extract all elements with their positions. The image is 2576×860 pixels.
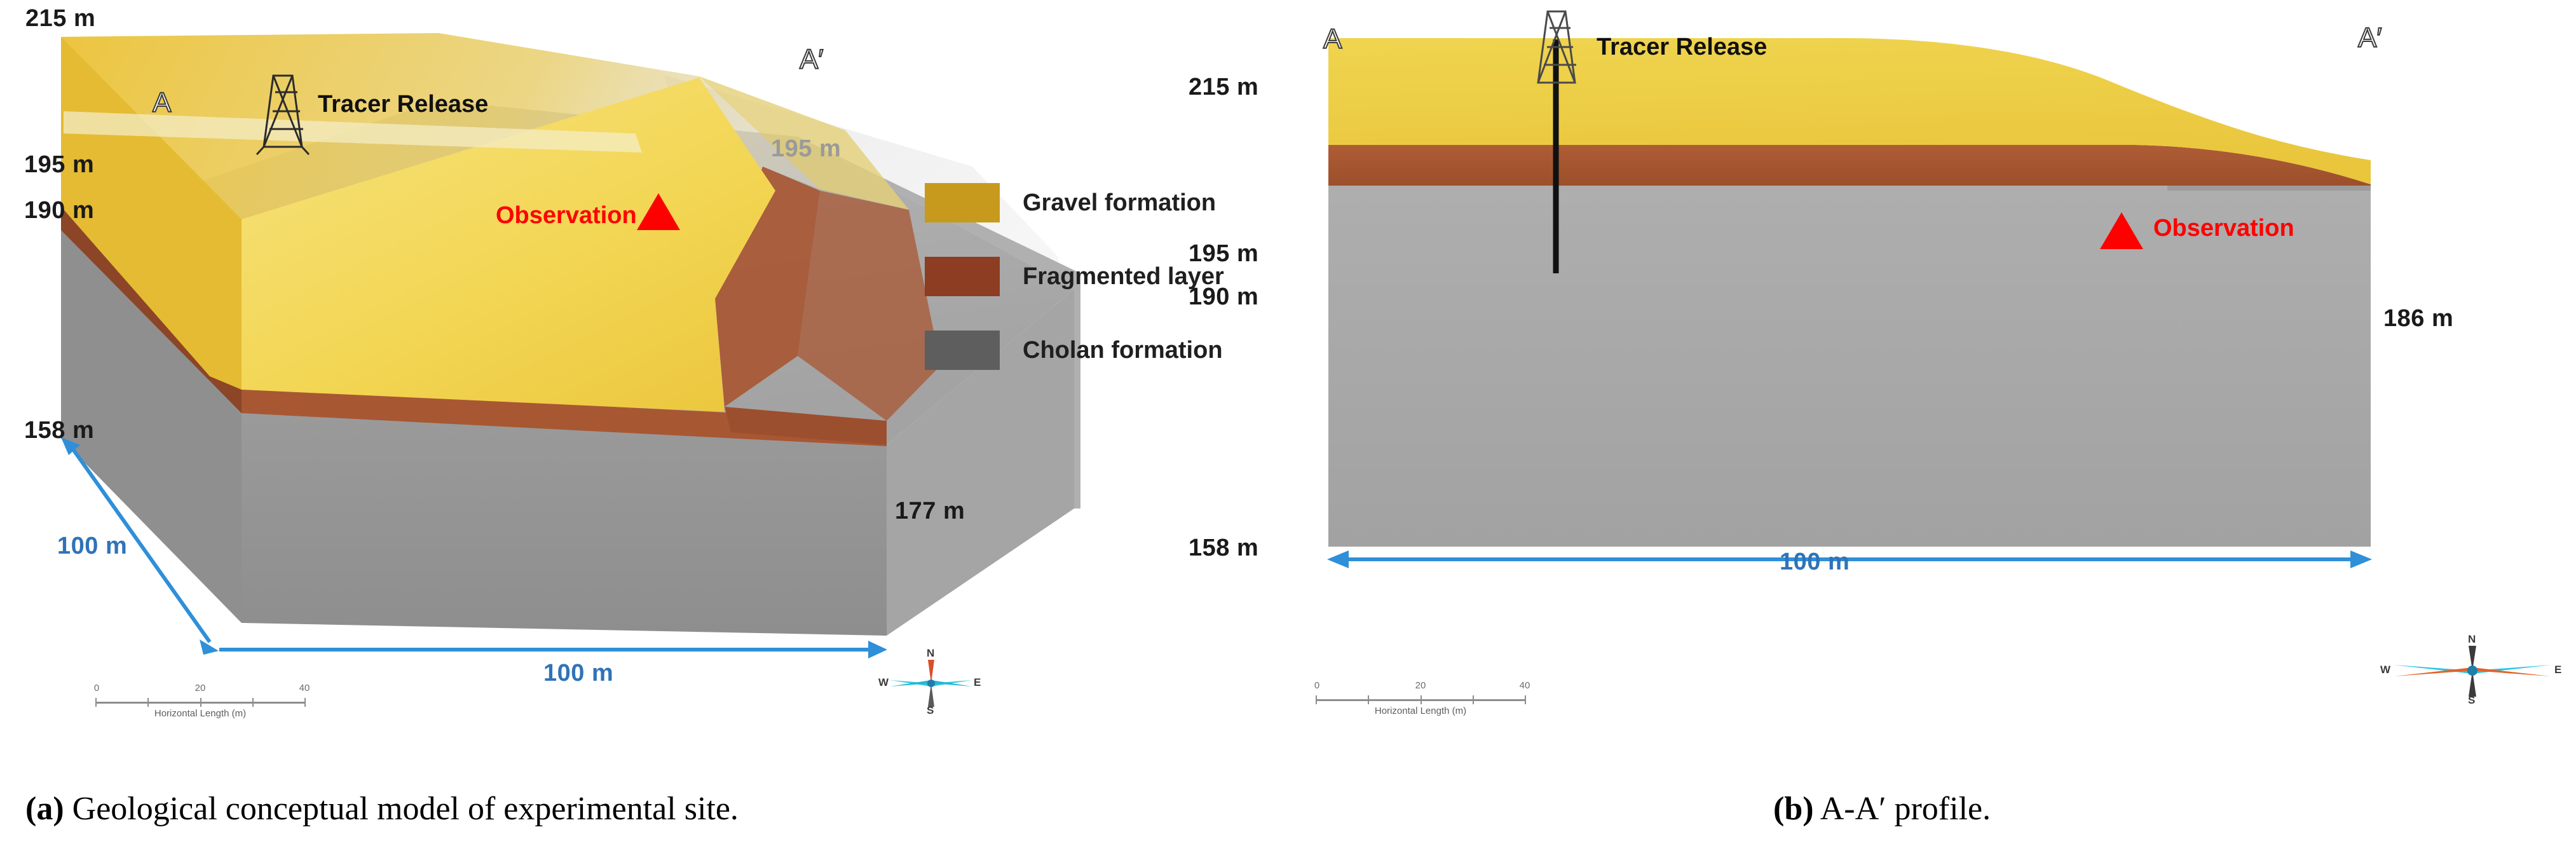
derrick-tower-icon [254,67,311,156]
observation-triangle-icon [2099,210,2144,252]
panel-b-profile: 215 m 195 m 190 m 158 m 186 m 100 m A A′… [1290,0,2576,763]
elevation-label-195m: 195 m [1189,242,1258,266]
section-label-a-prime: A′ [2358,24,2382,52]
scalebar-label-20: 20 [195,683,206,693]
caption-a-prefix: (a) [25,791,64,827]
scalebar-label-40: 40 [299,683,310,693]
section-label-a: A [153,89,171,117]
elevation-label-195m: 195 m [24,153,94,177]
elevation-label-far-195m: 195 m [771,137,841,161]
legend-label-cholan: Cholan formation [1023,337,1223,364]
legend-swatch-gravel [925,183,1000,222]
compass-label-east: E [2554,664,2561,676]
caption-b-text: A-A′ profile. [1814,791,1991,827]
elevation-label-190m: 190 m [24,198,94,222]
figure-root: 215 m 195 m 190 m 158 m 195 m 177 m 100 … [0,0,2576,860]
derrick-tower-icon [1530,6,1583,89]
compass-rose-panel-b: N S E W [2380,636,2565,706]
tracer-release-label: Tracer Release [318,92,488,116]
compass-rose-panel-a: N S E W [877,648,985,718]
observation-label: Observation [496,203,637,228]
dimension-label-width-100m: 100 m [1780,550,1850,574]
caption-b-prefix: (b) [1773,791,1814,827]
panel-a-geological-model: 215 m 195 m 190 m 158 m 195 m 177 m 100 … [0,0,1290,763]
legend-swatch-fragmented [925,257,1000,296]
scalebar-tick-30 [252,698,254,707]
cholan-front-face [242,412,887,636]
caption-panel-b: (b) A-A′ profile. [1773,790,1991,828]
elevation-label-190m: 190 m [1189,285,1258,309]
elevation-label-158m: 158 m [1189,536,1258,560]
legend-label-gravel: Gravel formation [1023,189,1216,217]
scalebar-tick-0 [95,698,97,707]
observation-label: Observation [2153,216,2294,240]
tracer-release-label: Tracer Release [1597,35,1767,59]
scalebar-panel-b: 0 20 40 Horizontal Length (m) [1316,685,1525,730]
compass-label-east: E [974,676,981,689]
section-label-a: A [1323,25,1342,53]
section-label-a-prime: A′ [800,46,824,74]
legend-item-gravel: Gravel formation [925,175,1255,231]
scalebar-label-40: 40 [1520,680,1530,691]
legend-swatch-cholan [925,331,1000,370]
legend-item-cholan: Cholan formation [925,322,1255,378]
scalebar-tick-10 [1368,695,1369,704]
dimension-label-depth-100m: 100 m [57,534,127,558]
scalebar-caption: Horizontal Length (m) [1375,706,1466,716]
elevation-label-158m: 158 m [24,418,94,442]
scalebar-tick-40 [304,698,306,707]
elevation-label-215m: 215 m [25,6,95,31]
scalebar-label-20: 20 [1415,680,1426,691]
compass-label-south: S [927,704,934,717]
elevation-label-215m: 215 m [1189,75,1258,99]
scalebar-tick-20 [1421,695,1422,704]
scalebar-label-0: 0 [94,683,99,693]
fragmented-layer-body [1328,145,2371,186]
caption-panel-a: (a) Geological conceptual model of exper… [25,790,739,828]
compass-label-north: N [2468,633,2476,646]
scalebar-tick-0 [1316,695,1317,704]
observation-triangle-icon [636,191,681,233]
scalebar-tick-30 [1473,695,1474,704]
scalebar-tick-20 [200,698,201,707]
scalebar-caption: Horizontal Length (m) [154,708,246,719]
scalebar-tick-10 [147,698,149,707]
scalebar-panel-a: 0 20 40 Horizontal Length (m) [95,688,305,732]
elevation-label-177m: 177 m [895,499,965,523]
compass-label-south: S [2468,694,2475,707]
dimension-label-width-100m: 100 m [543,661,613,685]
scalebar-label-0: 0 [1314,680,1319,691]
compass-label-west: W [878,676,889,689]
compass-label-north: N [927,647,934,660]
elevation-label-186m: 186 m [2383,306,2453,331]
compass-label-west: W [2380,664,2390,676]
scalebar-tick-40 [1525,695,1526,704]
caption-a-text: Geological conceptual model of experimen… [64,791,739,827]
